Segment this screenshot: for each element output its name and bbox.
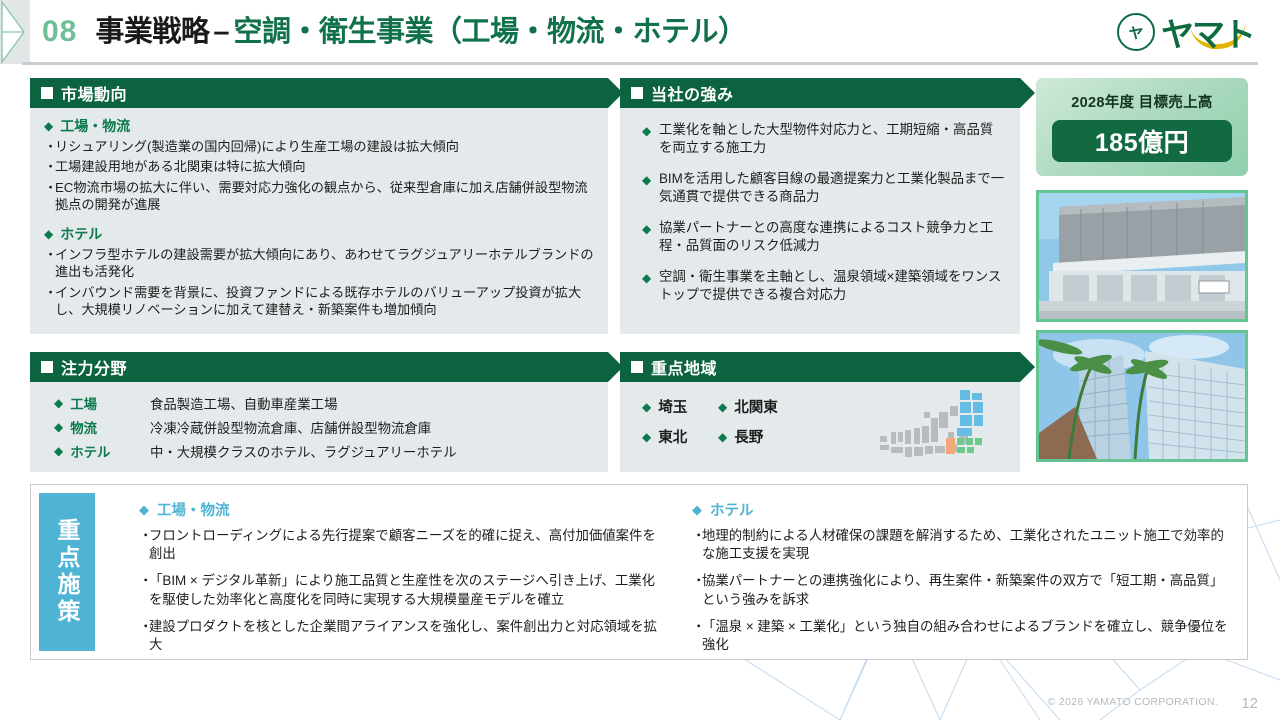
- key-measures-panel: 重点施策 ◆ 工場・物流 ・ フロントローディングによる先行提案で顧客ニーズを的…: [30, 484, 1248, 660]
- list-item: ・ インバウンド需要を背景に、投資ファンドによる既存ホテルのバリューアップ投資が…: [44, 284, 596, 319]
- market-trends-banner-label: 市場動向: [61, 81, 127, 105]
- key-measures-tab: 重点施策: [39, 493, 95, 651]
- sales-target-label: 2028年度 目標売上高: [1036, 78, 1248, 112]
- factory-photo-graphic: [1039, 193, 1245, 319]
- key-measures-column-hotel: ◆ ホテル ・ 地理的制約による人材確保の課題を解消するため、工業化されたユニッ…: [678, 485, 1247, 659]
- logo-wordmark-label: ヤマト: [1161, 16, 1254, 53]
- company-strengths-banner: 当社の強み: [620, 78, 1020, 108]
- square-bullet-icon: [631, 87, 643, 99]
- focus-row-key-label: 工場: [70, 393, 97, 413]
- table-row: ◆ 物流 冷凍冷蔵併設型物流倉庫、店舗併設型物流倉庫: [54, 417, 596, 437]
- list-item: ・ リシュアリング(製造業の国内回帰)により生産工場の建設は拡大傾向: [44, 138, 596, 155]
- footer-page-number: 12: [1241, 695, 1258, 712]
- company-strengths-panel: 当社の強み ◆ 工業化を軸とした大型物件対応力と、工期短縮・高品質を両立する施工…: [620, 78, 1020, 334]
- dot-bullet-icon: ・: [44, 284, 55, 319]
- list-item: ・ 協業パートナーとの連携強化により、再生案件・新築案件の双方で「短工期・高品質…: [692, 572, 1231, 608]
- table-row: ◆ ホテル 中・大規模クラスのホテル、ラグジュアリーホテル: [54, 441, 596, 461]
- slide-canvas: 08 事業戦略 – 空調・衛生事業（工場・物流・ホテル） ヤ ヤマト 市場動向 …: [0, 0, 1280, 720]
- list-item: ◆ 空調・衛生事業を主軸とし、温泉領域×建築領域をワンストップで提供できる複合対…: [642, 268, 1006, 304]
- focus-row-key: ◆ 物流: [54, 417, 150, 437]
- list-item-label: 地理的制約による人材確保の課題を解消するため、工業化されたユニット施工で効率的な…: [702, 527, 1231, 563]
- page-number-label: 08: [42, 15, 77, 49]
- page-title-main: 事業戦略: [95, 8, 209, 50]
- square-bullet-icon: [41, 87, 53, 99]
- factory-logistics-photo: [1036, 190, 1248, 322]
- list-item: ・ 建設プロダクトを核とした企業間アライアンスを強化し、案件創出力と対応領域を拡…: [139, 618, 662, 654]
- key-regions-panel: 重点地域 ◆ 埼玉 ◆ 北関東 ◆ 東北: [620, 352, 1020, 472]
- list-item-label: EC物流市場の拡大に伴い、需要対応力強化の観点から、従来型倉庫に加え店舗併設型物…: [55, 179, 596, 214]
- list-item: ◆ 協業パートナーとの高度な連携によるコスト競争力と工程・品質面のリスク低減力: [642, 219, 1006, 255]
- list-item-label: フロントローディングによる先行提案で顧客ニーズを的確に捉え、高付加価値案件を創出: [149, 527, 662, 563]
- list-item: ◆ BIMを活用した顧客目線の最適提案力と工業化製品まで一気通貫で提供できる商品…: [642, 170, 1006, 206]
- region-tag-list: ◆ 埼玉 ◆ 北関東 ◆ 東北 ◆ 長野: [620, 382, 778, 456]
- focus-fields-banner-label: 注力分野: [61, 355, 127, 379]
- table-row: ◆ 工場 食品製造工場、自動車産業工場: [54, 393, 596, 413]
- diamond-icon: ◆: [642, 401, 651, 413]
- list-item: ・ 工場建設用地がある北関東は特に拡大傾向: [44, 158, 596, 175]
- focus-row-key: ◆ 工場: [54, 393, 150, 413]
- list-item-label: インフラ型ホテルの建設需要が拡大傾向にあり、あわせてラグジュアリーホテルブランド…: [55, 246, 596, 281]
- footer-copyright: © 2026 YAMATO CORPORATION.: [1048, 696, 1218, 708]
- market-group-heading-label: 工場・物流: [60, 116, 130, 136]
- dot-bullet-icon: ・: [44, 158, 55, 175]
- list-item-label: 協業パートナーとの高度な連携によるコスト競争力と工程・品質面のリスク低減力: [659, 219, 1006, 255]
- key-regions-body: ◆ 埼玉 ◆ 北関東 ◆ 東北 ◆ 長野: [620, 382, 1020, 456]
- diamond-icon: ◆: [718, 401, 727, 413]
- diamond-icon: ◆: [139, 502, 149, 518]
- title-dash: –: [213, 16, 229, 49]
- square-bullet-icon: [41, 361, 53, 373]
- slide-header: 08 事業戦略 – 空調・衛生事業（工場・物流・ホテル） ヤ ヤマト: [0, 0, 1280, 64]
- key-measures-column-heading: ◆ 工場・物流: [139, 499, 662, 520]
- diamond-icon: ◆: [642, 170, 659, 206]
- diamond-icon: ◆: [44, 228, 53, 240]
- list-item: ◆ 工業化を軸とした大型物件対応力と、工期短縮・高品質を両立する施工力: [642, 121, 1006, 157]
- key-measures-column-factory: ◆ 工場・物流 ・ フロントローディングによる先行提案で顧客ニーズを的確に捉え、…: [109, 485, 678, 659]
- region-tag-label: 北関東: [734, 396, 778, 417]
- page-title: 08 事業戦略 – 空調・衛生事業（工場・物流・ホテル）: [42, 8, 747, 50]
- diamond-icon: ◆: [54, 445, 63, 457]
- region-tag: ◆ 埼玉: [642, 396, 700, 417]
- focus-row-value: 冷凍冷蔵併設型物流倉庫、店舗併設型物流倉庫: [150, 417, 431, 437]
- yamato-logo: ヤ ヤマト: [1117, 10, 1254, 54]
- focus-fields-banner: 注力分野: [30, 352, 608, 382]
- list-item-label: 「温泉 × 建築 × 工業化」という独自の組み合わせによるブランドを確立し、競争…: [702, 618, 1231, 654]
- list-item: ・ 地理的制約による人材確保の課題を解消するため、工業化されたユニット施工で効率…: [692, 527, 1231, 563]
- key-regions-banner: 重点地域: [620, 352, 1020, 382]
- focus-row-key-label: ホテル: [70, 441, 110, 461]
- diamond-icon: ◆: [692, 502, 702, 518]
- market-trends-banner: 市場動向: [30, 78, 608, 108]
- region-tag-label: 東北: [658, 426, 687, 447]
- key-measures-columns: ◆ 工場・物流 ・ フロントローディングによる先行提案で顧客ニーズを的確に捉え、…: [109, 485, 1247, 659]
- list-item-label: 工場建設用地がある北関東は特に拡大傾向: [55, 158, 306, 175]
- region-tag: ◆ 長野: [718, 426, 776, 447]
- market-trends-panel: 市場動向 ◆ 工場・物流 ・ リシュアリング(製造業の国内回帰)により生産工場の…: [30, 78, 608, 334]
- dot-bullet-icon: ・: [44, 246, 55, 281]
- company-strengths-banner-label: 当社の強み: [651, 81, 734, 105]
- region-tag: ◆ 東北: [642, 426, 700, 447]
- diamond-icon: ◆: [642, 431, 651, 443]
- diamond-icon: ◆: [642, 219, 659, 255]
- square-bullet-icon: [631, 361, 643, 373]
- market-group-heading: ◆ 工場・物流: [44, 116, 596, 136]
- market-group-heading: ◆ ホテル: [44, 224, 596, 244]
- diamond-icon: ◆: [642, 268, 659, 304]
- list-item-label: 建設プロダクトを核とした企業間アライアンスを強化し、案件創出力と対応領域を拡大: [149, 618, 662, 654]
- list-item-label: 工業化を軸とした大型物件対応力と、工期短縮・高品質を両立する施工力: [659, 121, 1006, 157]
- market-trends-body: ◆ 工場・物流 ・ リシュアリング(製造業の国内回帰)により生産工場の建設は拡大…: [30, 108, 608, 318]
- leaf-decoration-icon: [0, 0, 30, 64]
- japan-map-icon: [878, 388, 1004, 468]
- focus-fields-panel: 注力分野 ◆ 工場 食品製造工場、自動車産業工場 ◆ 物流 冷凍冷蔵併設型物流倉…: [30, 352, 608, 472]
- dot-bullet-icon: ・: [692, 527, 702, 563]
- key-regions-banner-label: 重点地域: [651, 355, 717, 379]
- dot-bullet-icon: ・: [139, 618, 149, 654]
- logo-wordmark: ヤマト: [1161, 8, 1254, 56]
- diamond-icon: ◆: [54, 397, 63, 409]
- key-measures-column-heading-label: ホテル: [710, 499, 754, 520]
- diamond-icon: ◆: [718, 431, 727, 443]
- focus-row-key-label: 物流: [70, 417, 97, 437]
- logo-mark-icon: ヤ: [1117, 13, 1155, 51]
- key-measures-column-heading: ◆ ホテル: [692, 499, 1231, 520]
- list-item: ・ 「BIM × デジタル革新」により施工品質と生産性を次のステージへ引き上げ、…: [139, 572, 662, 608]
- key-measures-column-heading-label: 工場・物流: [157, 499, 230, 520]
- hotel-photo: [1036, 330, 1248, 462]
- hotel-photo-graphic: [1039, 333, 1245, 459]
- list-item-label: 協業パートナーとの連携強化により、再生案件・新築案件の双方で「短工期・高品質」と…: [702, 572, 1231, 608]
- list-item-label: インバウンド需要を背景に、投資ファンドによる既存ホテルのバリューアップ投資が拡大…: [55, 284, 596, 319]
- dot-bullet-icon: ・: [139, 527, 149, 563]
- region-tag-label: 長野: [734, 426, 763, 447]
- dot-bullet-icon: ・: [44, 138, 55, 155]
- diamond-icon: ◆: [44, 120, 53, 132]
- list-item-label: BIMを活用した顧客目線の最適提案力と工業化製品まで一気通貫で提供できる商品力: [659, 170, 1006, 206]
- focus-row-value: 中・大規模クラスのホテル、ラグジュアリーホテル: [150, 441, 457, 461]
- region-tag: ◆ 北関東: [718, 396, 778, 417]
- list-item: ・ フロントローディングによる先行提案で顧客ニーズを的確に捉え、高付加価値案件を…: [139, 527, 662, 563]
- dot-bullet-icon: ・: [692, 572, 702, 608]
- region-tag-label: 埼玉: [658, 396, 687, 417]
- focus-row-value: 食品製造工場、自動車産業工場: [150, 393, 337, 413]
- region-tag-row: ◆ 埼玉 ◆ 北関東: [642, 396, 778, 417]
- dot-bullet-icon: ・: [139, 572, 149, 608]
- company-strengths-body: ◆ 工業化を軸とした大型物件対応力と、工期短縮・高品質を両立する施工力 ◆ BI…: [620, 108, 1020, 304]
- list-item: ・ EC物流市場の拡大に伴い、需要対応力強化の観点から、従来型倉庫に加え店舗併設…: [44, 179, 596, 214]
- diamond-icon: ◆: [54, 421, 63, 433]
- sales-target-card: 2028年度 目標売上高 185億円: [1036, 78, 1248, 176]
- dot-bullet-icon: ・: [44, 179, 55, 214]
- diamond-icon: ◆: [642, 121, 659, 157]
- list-item-label: リシュアリング(製造業の国内回帰)により生産工場の建設は拡大傾向: [55, 138, 459, 155]
- list-item: ・ インフラ型ホテルの建設需要が拡大傾向にあり、あわせてラグジュアリーホテルブラ…: [44, 246, 596, 281]
- region-tag-row: ◆ 東北 ◆ 長野: [642, 426, 778, 447]
- page-title-accent: 空調・衛生事業（工場・物流・ホテル）: [234, 8, 747, 50]
- focus-fields-body: ◆ 工場 食品製造工場、自動車産業工場 ◆ 物流 冷凍冷蔵併設型物流倉庫、店舗併…: [30, 382, 608, 461]
- list-item-label: 空調・衛生事業を主軸とし、温泉領域×建築領域をワンストップで提供できる複合対応力: [659, 268, 1006, 304]
- market-group-heading-label: ホテル: [60, 224, 102, 244]
- focus-row-key: ◆ ホテル: [54, 441, 150, 461]
- sales-target-value: 185億円: [1052, 120, 1232, 162]
- list-item-label: 「BIM × デジタル革新」により施工品質と生産性を次のステージへ引き上げ、工業…: [149, 572, 662, 608]
- dot-bullet-icon: ・: [692, 618, 702, 654]
- list-item: ・ 「温泉 × 建築 × 工業化」という独自の組み合わせによるブランドを確立し、…: [692, 618, 1231, 654]
- header-divider: [22, 62, 1258, 65]
